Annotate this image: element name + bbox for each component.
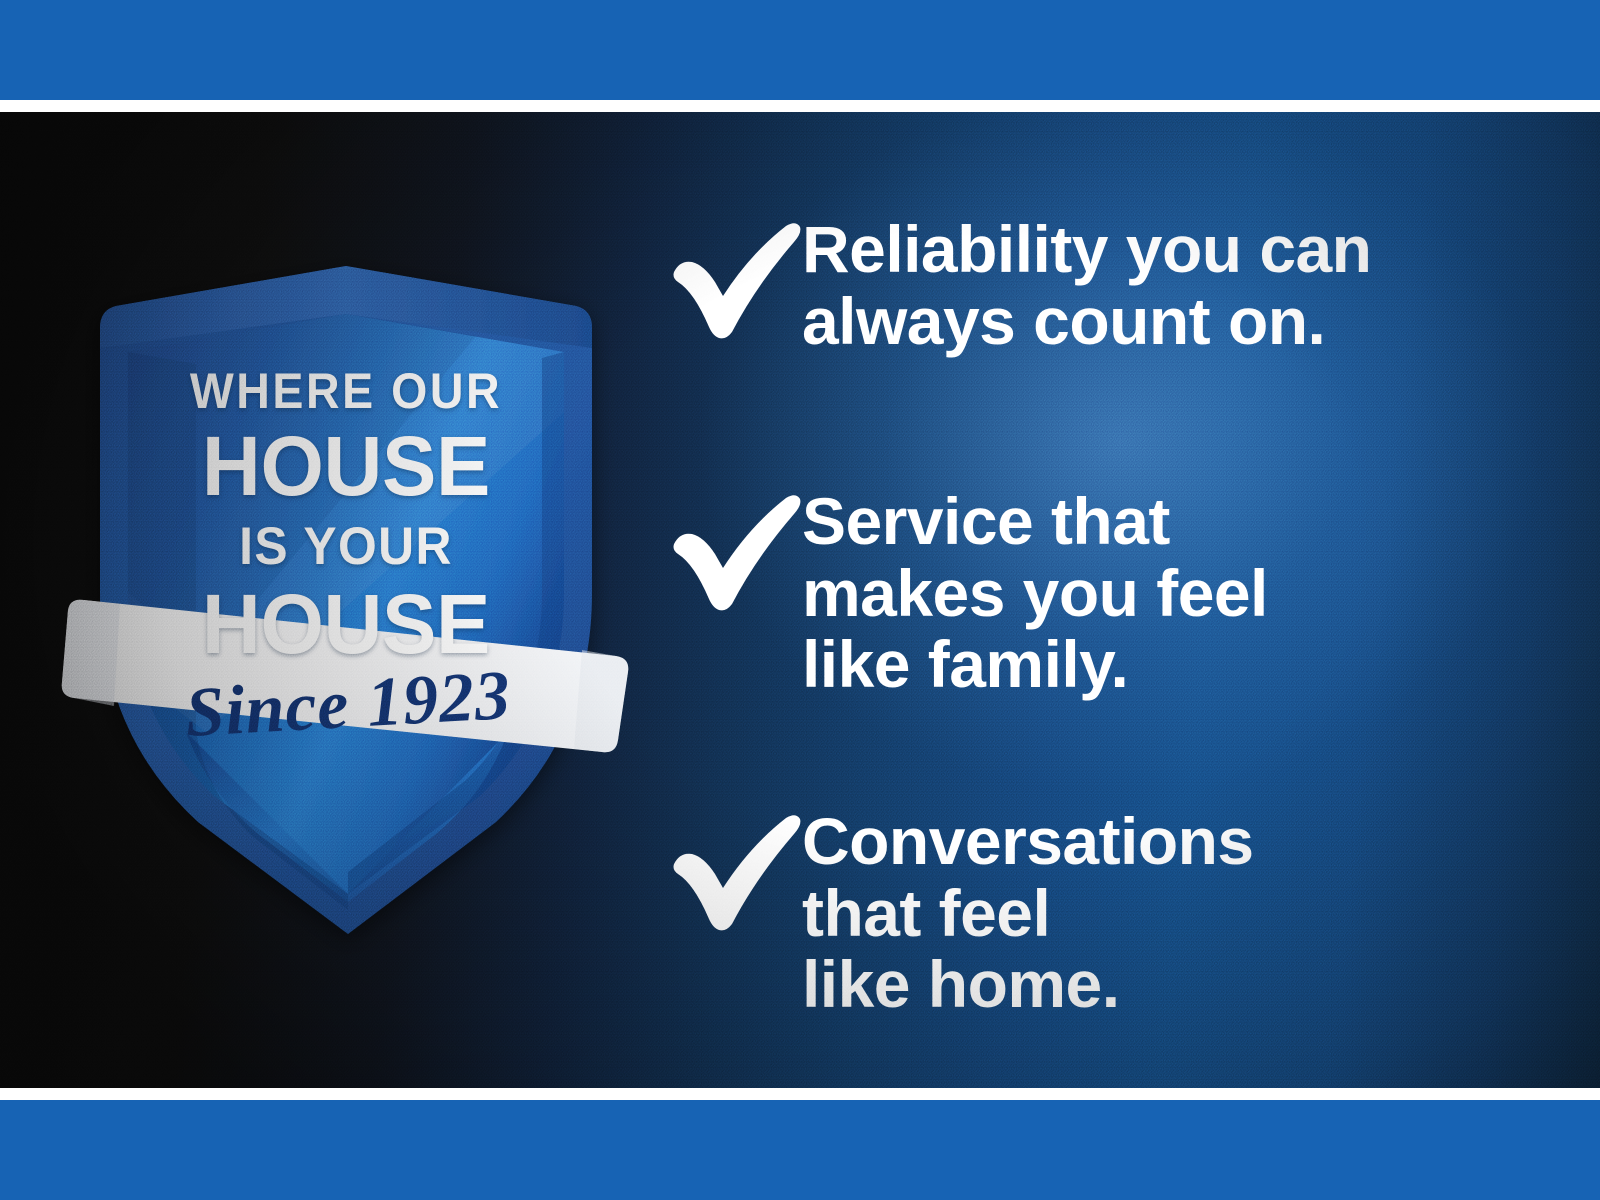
benefit-text-reliability: Reliability you can always count on.: [802, 212, 1371, 357]
checkmark-icon: [670, 220, 802, 340]
company-shield-badge: WHERE OUR HOUSE IS YOUR HOUSE Since 1923: [56, 262, 636, 942]
brand-bar-bottom-divider: [0, 1088, 1600, 1100]
benefit-item-reliability: Reliability you can always count on.: [670, 212, 1371, 357]
promo-graphic: WHERE OUR HOUSE IS YOUR HOUSE Since 1923…: [0, 0, 1600, 1200]
main-artwork-panel: WHERE OUR HOUSE IS YOUR HOUSE Since 1923…: [0, 112, 1600, 1088]
benefit-item-service: Service that makes you feel like family.: [670, 484, 1268, 701]
checkmark-icon: [670, 492, 802, 612]
brand-bar-top-divider: [0, 100, 1600, 112]
benefit-text-service: Service that makes you feel like family.: [802, 484, 1268, 701]
checkmark-icon: [670, 812, 802, 932]
brand-bar-bottom: [0, 1100, 1600, 1200]
shield-body: [100, 266, 592, 934]
benefit-text-conversations: Conversations that feel like home.: [802, 804, 1254, 1021]
brand-bar-top: [0, 0, 1600, 100]
benefit-item-conversations: Conversations that feel like home.: [670, 804, 1254, 1021]
